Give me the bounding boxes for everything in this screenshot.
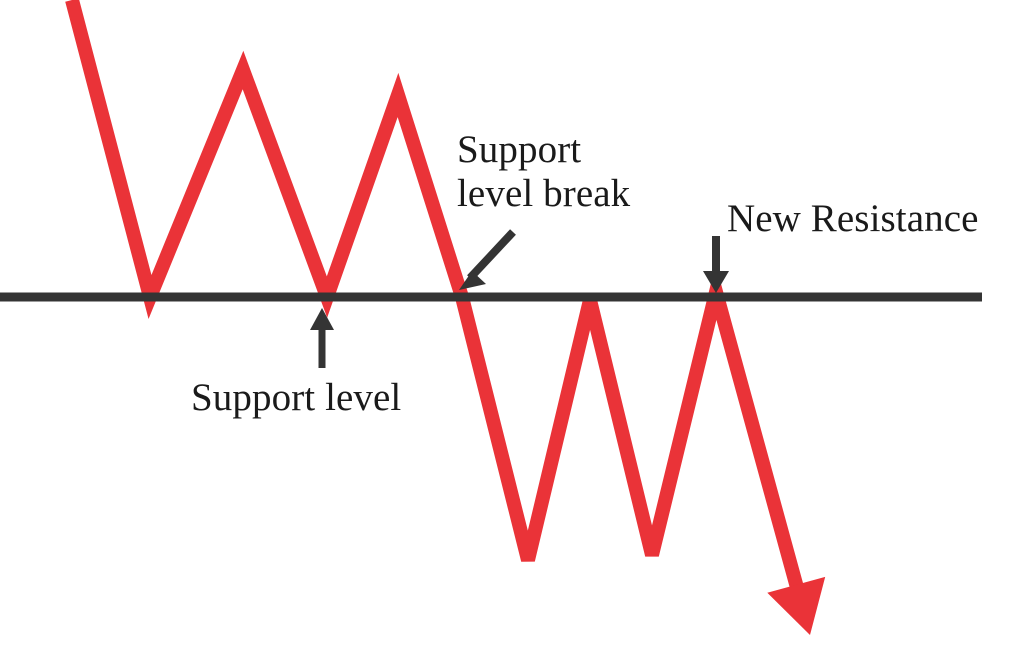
arrow-down-icon — [703, 236, 729, 293]
chart-canvas: Supportlevel break New Resistance Suppor… — [0, 0, 1024, 646]
arrow-down-left-icon — [459, 232, 513, 290]
support-break-line1: Support — [457, 128, 581, 171]
support-break-line2: level break — [457, 172, 630, 215]
support-resistance-chart — [0, 0, 1024, 646]
downtrend-arrowhead-icon — [767, 577, 825, 635]
arrow-up-icon — [310, 308, 334, 368]
support-level-label: Support level — [191, 376, 401, 420]
support-level-break-label: Supportlevel break — [457, 128, 630, 215]
new-resistance-label: New Resistance — [727, 197, 979, 241]
price-action-series — [72, 0, 825, 635]
